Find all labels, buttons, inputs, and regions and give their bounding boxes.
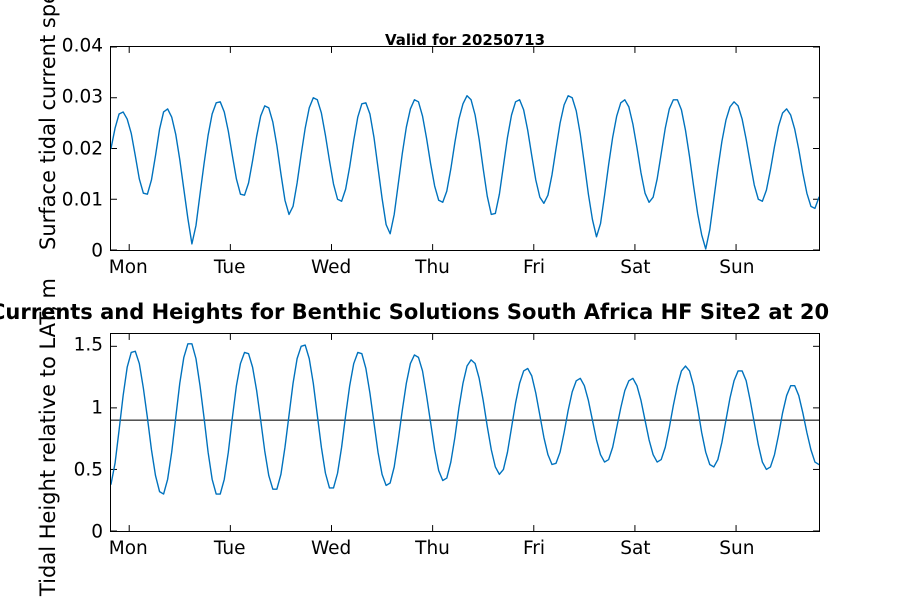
x-tick-label: Thu: [415, 257, 450, 278]
x-tick-label: Wed: [311, 538, 351, 559]
subplot-title-valid-for: Valid for 20250713: [385, 31, 545, 49]
current-speed-y-axis-label: Surface tidal current speed, kn: [36, 0, 60, 250]
x-tick-label: Mon: [109, 538, 148, 559]
x-tick-label: Sat: [620, 257, 650, 278]
current-speed-axes: [110, 46, 820, 251]
x-tick-label: Tue: [214, 538, 246, 559]
tidal-height-axes: [110, 333, 820, 532]
figure-main-title: Currents and Heights for Benthic Solutio…: [0, 300, 829, 324]
x-tick-label: Fri: [523, 257, 545, 278]
x-tick-label: Fri: [523, 538, 545, 559]
x-tick-label: Tue: [214, 257, 246, 278]
current-speed-plot-line: [111, 47, 819, 250]
tidal-height-plot-line: [111, 334, 819, 531]
x-tick-label: Mon: [109, 257, 148, 278]
tidal-height-y-axis-label: Tidal Height relative to LAT, m: [36, 278, 60, 596]
x-tick-label: Sun: [719, 538, 754, 559]
x-tick-label: Thu: [415, 538, 450, 559]
figure: Valid for 20250713 00.010.020.030.04 Mon…: [0, 0, 900, 600]
x-tick-label: Sat: [620, 538, 650, 559]
x-tick-label: Sun: [719, 257, 754, 278]
x-tick-label: Wed: [311, 257, 351, 278]
